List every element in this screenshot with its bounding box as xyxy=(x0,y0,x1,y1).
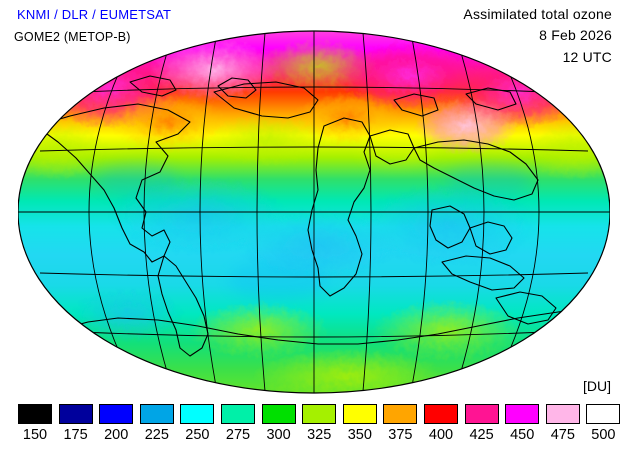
colorbar-tick-label: 475 xyxy=(546,427,580,443)
colorbar-swatch xyxy=(221,404,255,424)
colorbar-swatch xyxy=(505,404,539,424)
page-title: Assimilated total ozone xyxy=(463,6,612,22)
colorbar-swatch xyxy=(180,404,214,424)
unit-label: [DU] xyxy=(583,378,611,394)
colorbar-entry: 175 xyxy=(59,404,93,443)
colorbar-entry: 375 xyxy=(383,404,417,443)
colorbar-entry: 450 xyxy=(505,404,539,443)
colorbar-tick-label: 450 xyxy=(505,427,539,443)
colorbar-swatch xyxy=(18,404,52,424)
colorbar-entry: 350 xyxy=(343,404,377,443)
colorbar-swatch xyxy=(424,404,458,424)
colorbar-entry: 500 xyxy=(586,404,620,443)
world-ozone-map xyxy=(18,30,610,394)
colorbar-tick-label: 300 xyxy=(262,427,296,443)
colorbar-tick-label: 350 xyxy=(343,427,377,443)
colorbar-tick-label: 325 xyxy=(302,427,336,443)
colorbar-tick-label: 150 xyxy=(18,427,52,443)
colorbar-entry: 225 xyxy=(140,404,174,443)
colorbar-swatch xyxy=(343,404,377,424)
colorbar-tick-label: 225 xyxy=(140,427,174,443)
colorbar-entry: 400 xyxy=(424,404,458,443)
colorbar-swatch xyxy=(59,404,93,424)
colorbar-entry: 250 xyxy=(180,404,214,443)
ozone-map-figure: KNMI / DLR / EUMETSAT GOME2 (METOP-B) As… xyxy=(0,0,628,452)
colorbar-tick-label: 200 xyxy=(99,427,133,443)
colorbar-swatch xyxy=(99,404,133,424)
colorbar-tick-label: 375 xyxy=(383,427,417,443)
colorbar-tick-label: 250 xyxy=(180,427,214,443)
colorbar-entry: 475 xyxy=(546,404,580,443)
colorbar-swatch xyxy=(140,404,174,424)
colorbar-swatch xyxy=(383,404,417,424)
colorbar-swatch xyxy=(546,404,580,424)
colorbar-entry: 425 xyxy=(465,404,499,443)
colorbar-entry: 325 xyxy=(302,404,336,443)
ozone-field xyxy=(18,30,610,394)
colorbar-tick-label: 400 xyxy=(424,427,458,443)
colorbar-legend: 1501752002252502753003253503754004254504… xyxy=(0,404,628,452)
colorbar-tick-label: 425 xyxy=(465,427,499,443)
colorbar-entry: 300 xyxy=(262,404,296,443)
colorbar-entry: 200 xyxy=(99,404,133,443)
agency-credit: KNMI / DLR / EUMETSAT xyxy=(17,7,171,22)
colorbar-tick-label: 175 xyxy=(59,427,93,443)
colorbar-entry: 275 xyxy=(221,404,255,443)
colorbar-entry: 150 xyxy=(18,404,52,443)
colorbar-tick-label: 275 xyxy=(221,427,255,443)
colorbar-tick-label: 500 xyxy=(586,427,620,443)
colorbar-swatch xyxy=(465,404,499,424)
colorbar-swatch xyxy=(302,404,336,424)
colorbar-swatch xyxy=(262,404,296,424)
colorbar-swatch xyxy=(586,404,620,424)
